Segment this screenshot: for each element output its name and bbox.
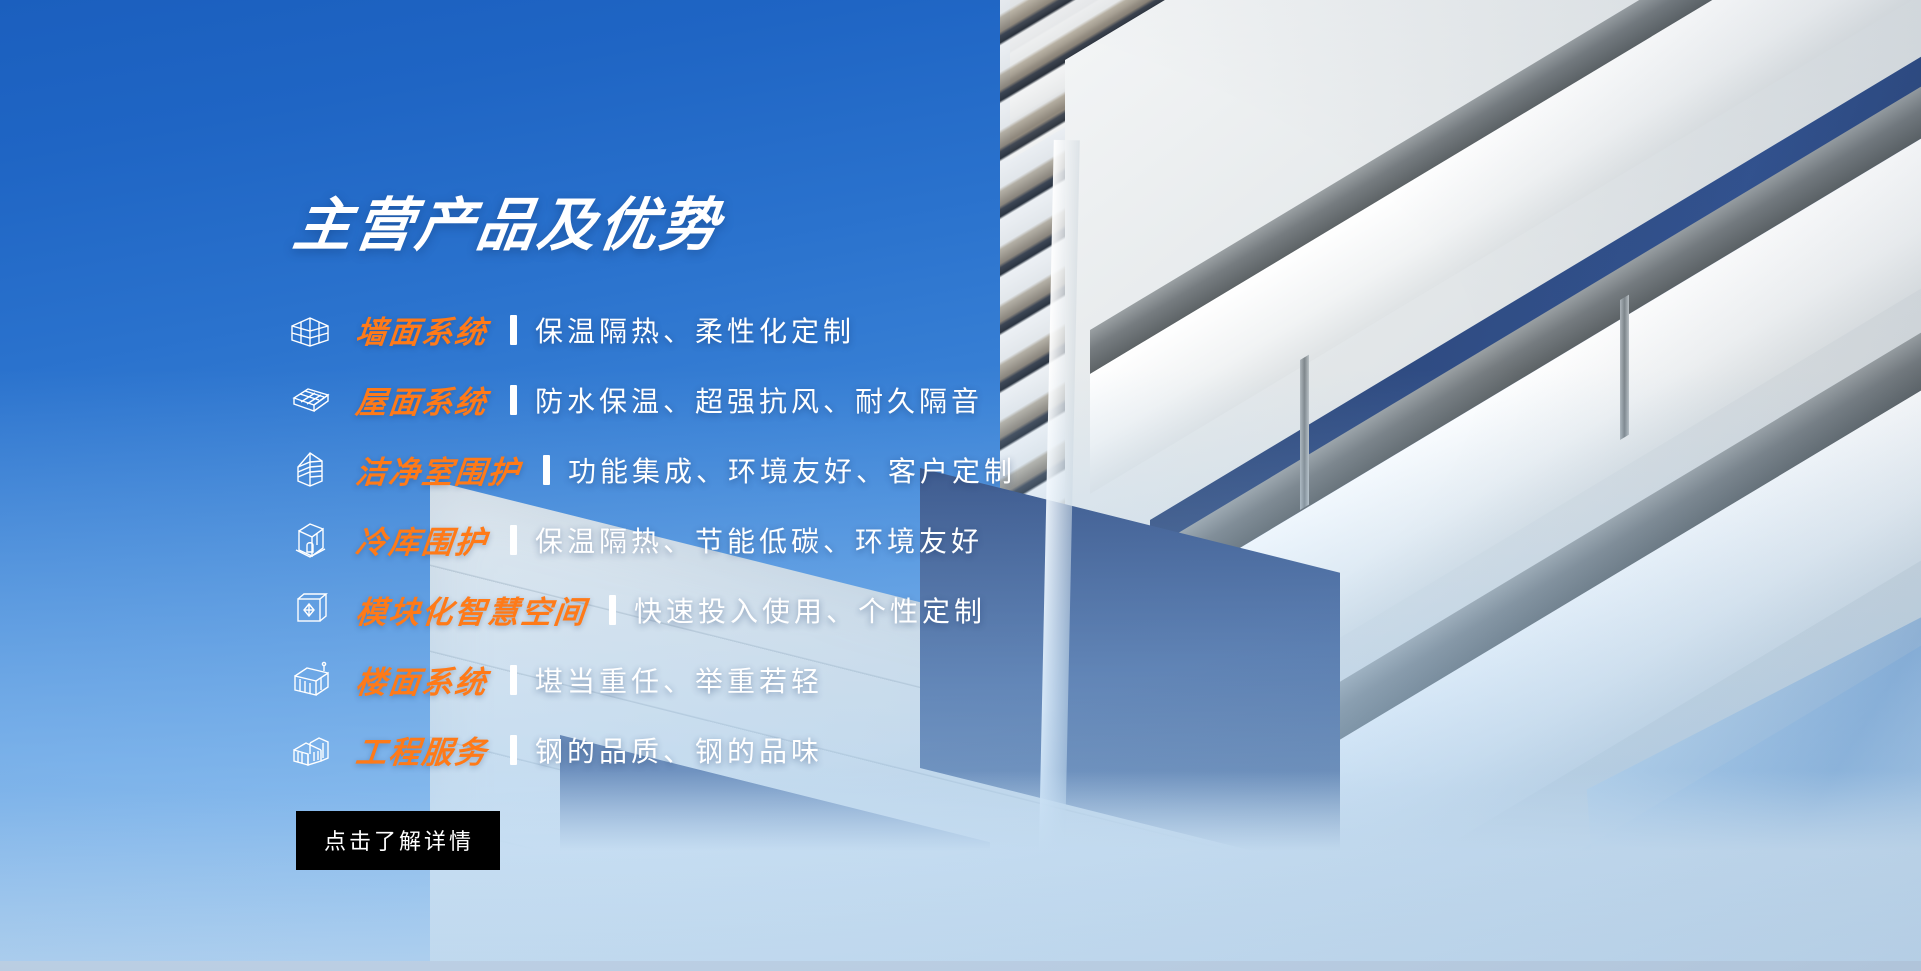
feature-description: 快速投入使用、个性定制 [634, 590, 986, 630]
product-feature-list: 墙面系统 保温隔热、柔性化定制 屋面系统 [288, 295, 1188, 785]
cleanroom-building-icon [288, 449, 344, 491]
feature-title: 模块化智慧空间 [354, 587, 590, 632]
list-item[interactable]: 模块化智慧空间 快速投入使用、个性定制 [288, 575, 1188, 645]
feature-separator [510, 385, 517, 415]
list-item[interactable]: 楼面系统 堪当重任、举重若轻 [288, 645, 1188, 715]
feature-description: 保温隔热、柔性化定制 [535, 310, 855, 350]
list-item[interactable]: 冷库围护 保温隔热、节能低碳、环境友好 [288, 505, 1188, 575]
feature-separator [510, 525, 517, 555]
photo-base-strip [0, 961, 1921, 971]
feature-description: 堪当重任、举重若轻 [535, 660, 823, 700]
feature-description: 保温隔热、节能低碳、环境友好 [535, 520, 983, 560]
feature-separator [510, 315, 517, 345]
feature-title: 冷库围护 [354, 517, 491, 562]
cold-storage-icon [288, 519, 344, 561]
wall-panel-cube-icon [288, 310, 344, 350]
modular-space-cube-icon [288, 589, 344, 631]
feature-description: 功能集成、环境友好、客户定制 [568, 450, 1016, 490]
banner-content: 主营产品及优势 墙面系统 保温隔热、柔性化定制 [288, 196, 1188, 870]
building-downpipe-1 [1300, 355, 1309, 510]
list-item[interactable]: 屋面系统 防水保温、超强抗风、耐久隔音 [288, 365, 1188, 435]
page-title: 主营产品及优势 [290, 196, 1193, 257]
feature-description: 钢的品质、钢的品味 [535, 730, 823, 770]
feature-separator [609, 595, 616, 625]
feature-separator [510, 735, 517, 765]
floor-system-box-icon [288, 660, 344, 700]
feature-separator [510, 665, 517, 695]
feature-title: 墙面系统 [354, 307, 491, 352]
feature-description: 防水保温、超强抗风、耐久隔音 [535, 380, 983, 420]
feature-separator [543, 455, 550, 485]
learn-more-button[interactable]: 点击了解详情 [296, 811, 500, 870]
product-advantages-banner: 主营产品及优势 墙面系统 保温隔热、柔性化定制 [0, 0, 1921, 971]
roof-slab-icon [288, 380, 344, 420]
building-downpipe-3 [1620, 295, 1629, 440]
feature-title: 楼面系统 [354, 657, 491, 702]
feature-title: 屋面系统 [354, 377, 491, 422]
list-item[interactable]: 洁净室围护 功能集成、环境友好、客户定制 [288, 435, 1188, 505]
feature-title: 工程服务 [354, 727, 491, 772]
engineering-service-factory-icon [288, 730, 344, 770]
list-item[interactable]: 墙面系统 保温隔热、柔性化定制 [288, 295, 1188, 365]
feature-title: 洁净室围护 [354, 447, 524, 492]
list-item[interactable]: 工程服务 钢的品质、钢的品味 [288, 715, 1188, 785]
